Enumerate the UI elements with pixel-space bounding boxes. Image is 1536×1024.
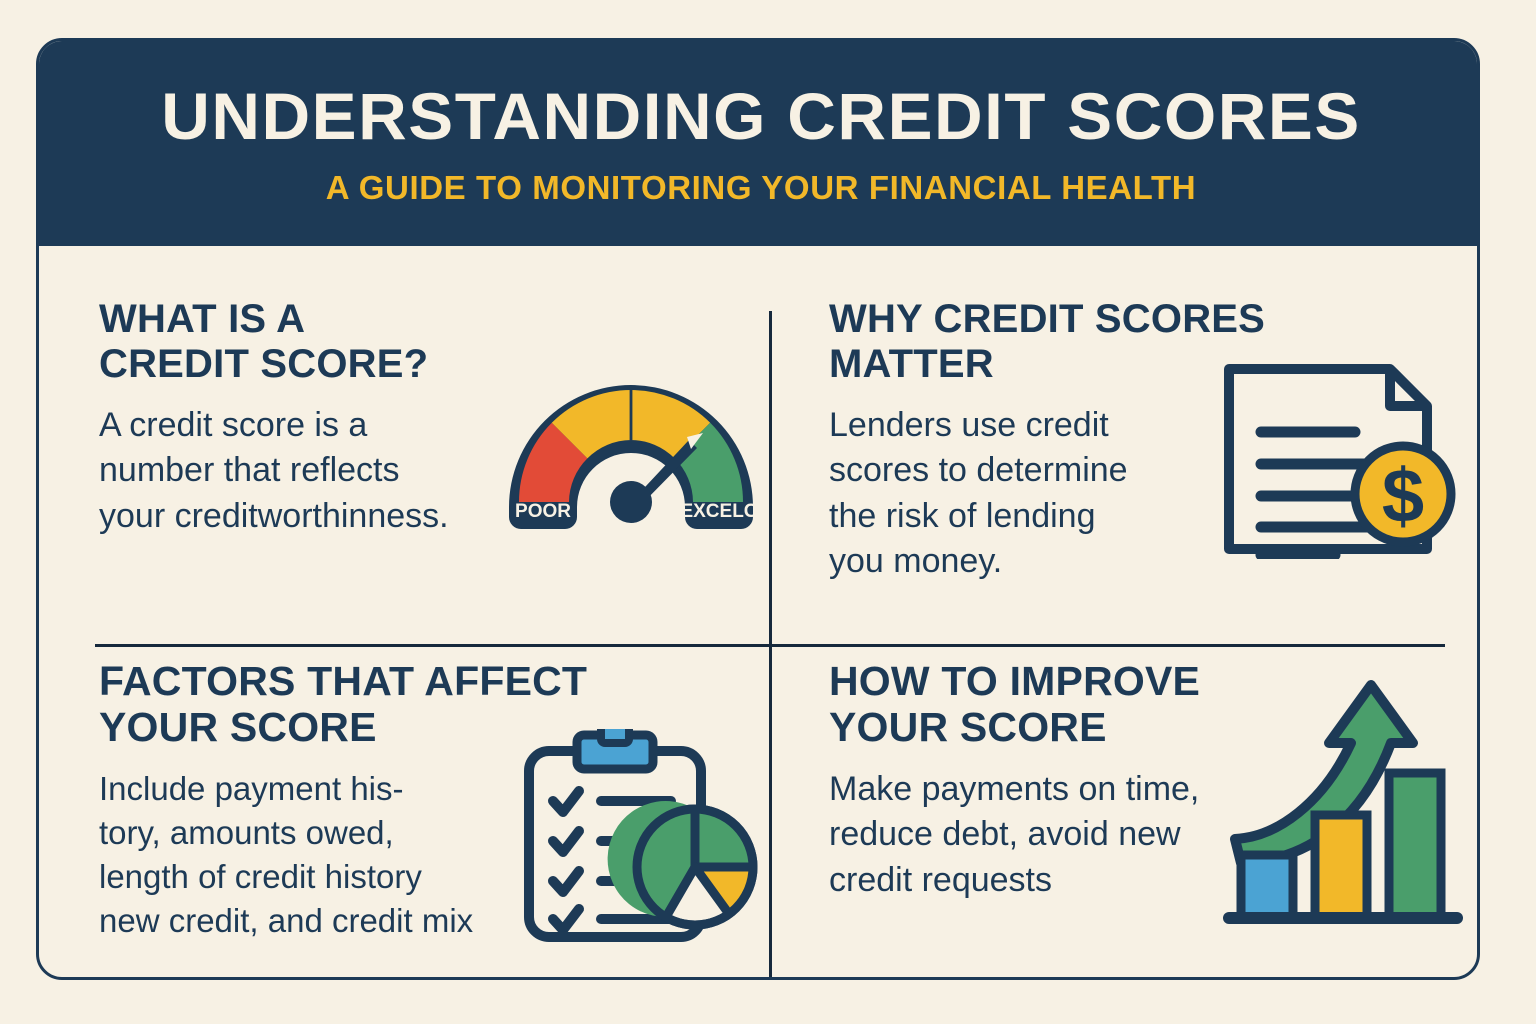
- clipboard-checklist-pie-icon: [515, 729, 765, 949]
- page-subtitle: A GUIDE TO MONITORING YOUR FINANCIAL HEA…: [326, 169, 1196, 207]
- poster-header: UNDERSTANDING CREDIT SCORES A GUIDE TO M…: [36, 38, 1480, 246]
- poster-card: UNDERSTANDING CREDIT SCORES A GUIDE TO M…: [36, 38, 1480, 980]
- section-body: Make payments on time, reduce debt, avoi…: [829, 767, 1259, 904]
- section-factors-that-affect-your-score: FACTORS THAT AFFECT YOUR SCORE Include p…: [99, 659, 759, 980]
- section-body: A credit score is a number that reflects…: [99, 403, 529, 540]
- page-title: UNDERSTANDING CREDIT SCORES: [161, 83, 1361, 149]
- content-grid: WHAT IS A CREDIT SCORE? A credit score i…: [39, 249, 1477, 980]
- credit-score-gauge-icon: POOR EXCELC: [491, 317, 771, 532]
- gauge-high-label: EXCELC: [680, 501, 757, 522]
- section-why-credit-scores-matter: WHY CREDIT SCORES MATTER Lenders use cre…: [829, 297, 1459, 637]
- dollar-symbol: $: [1382, 454, 1424, 539]
- gauge-low-label: POOR: [515, 501, 571, 522]
- horizontal-divider: [95, 644, 1445, 647]
- section-body: Lenders use credit scores to determine t…: [829, 403, 1259, 585]
- growth-bar-chart-arrow-icon: [1219, 677, 1469, 927]
- section-what-is-a-credit-score: WHAT IS A CREDIT SCORE? A credit score i…: [99, 297, 759, 637]
- infographic-poster: UNDERSTANDING CREDIT SCORES A GUIDE TO M…: [0, 0, 1536, 1024]
- document-with-dollar-coin-icon: $: [1215, 359, 1465, 559]
- section-how-to-improve-your-score: HOW TO IMPROVE YOUR SCORE Make payments …: [829, 659, 1459, 980]
